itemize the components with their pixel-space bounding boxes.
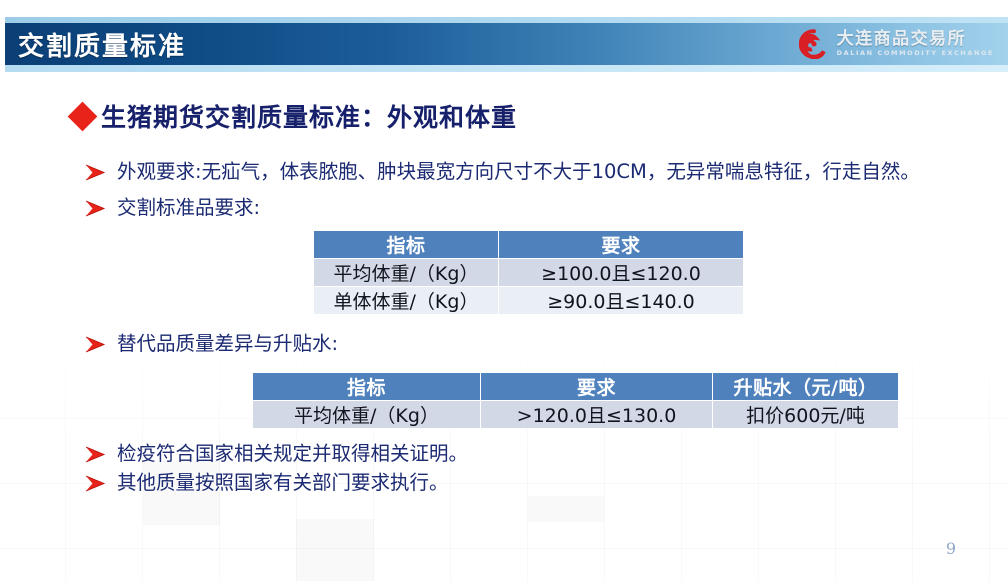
dce-logo-name-en: DALIAN COMMODITY EXCHANGE [837, 50, 994, 57]
title-bar-bottom-accent [5, 65, 1008, 72]
background-blotch [296, 519, 374, 581]
red-arrow-bullet-icon [84, 472, 106, 496]
column-header-indicator: 指标 [314, 231, 499, 259]
bullet-item-other-quality: 其他质量按照国家有关部门要求执行。 [84, 469, 1008, 496]
bullet-item-quarantine: 检疫符合国家相关规定并取得相关证明。 [84, 440, 1008, 467]
bullet-label: 其他质量按照国家有关部门要求执行。 [117, 469, 449, 496]
slide-title-bar: 交割质量标准 大连商品交易所 DALIAN COMMODITY EXCHANGE [5, 17, 1008, 72]
slide-content: 生猪期货交割质量标准：外观和体重 外观要求:无疝气，体表脓胞、肿块最宽方向尺寸不… [0, 80, 1008, 496]
cell-requirement: >120.0且≤130.0 [481, 401, 713, 429]
standard-product-table: 指标 要求 平均体重/（Kg） ≥100.0且≤120.0 单体体重/（Kg） … [313, 230, 744, 315]
bullet-label: 替代品质量差异与升贴水: [117, 330, 338, 357]
bullet-item-standard-requirement: 交割标准品要求: [84, 194, 1008, 221]
cell-indicator: 平均体重/（Kg） [253, 401, 481, 429]
substitute-premium-table-block: 指标 要求 升贴水（元/吨） 平均体重/（Kg） >120.0且≤130.0 扣… [252, 372, 1008, 429]
section-heading: 生猪期货交割质量标准：外观和体重 [72, 98, 1008, 134]
bullet-label: 交割标准品要求: [117, 194, 260, 221]
cell-requirement: ≥90.0且≤140.0 [499, 287, 744, 315]
page-title: 交割质量标准 [5, 26, 186, 63]
table-header-row: 指标 要求 [314, 231, 744, 259]
column-header-requirement: 要求 [481, 373, 713, 401]
table-row: 平均体重/（Kg） ≥100.0且≤120.0 [314, 259, 744, 287]
red-arrow-bullet-icon [84, 443, 106, 467]
bullet-item-substitute-premium: 替代品质量差异与升贴水: [84, 330, 1008, 357]
dce-swirl-logo-icon [799, 29, 829, 59]
red-arrow-bullet-icon [84, 333, 106, 357]
table-row: 平均体重/（Kg） >120.0且≤130.0 扣价600元/吨 [253, 401, 899, 429]
dce-logo-text: 大连商品交易所 DALIAN COMMODITY EXCHANGE [837, 31, 994, 57]
red-arrow-bullet-icon [84, 197, 106, 221]
column-header-premium: 升贴水（元/吨） [713, 373, 899, 401]
red-arrow-bullet-icon [84, 161, 106, 185]
cell-indicator: 单体体重/（Kg） [314, 287, 499, 315]
dce-logo: 大连商品交易所 DALIAN COMMODITY EXCHANGE [799, 29, 1008, 59]
bullet-label: 检疫符合国家相关规定并取得相关证明。 [117, 440, 468, 467]
cell-premium: 扣价600元/吨 [713, 401, 899, 429]
dce-logo-name-cn: 大连商品交易所 [837, 31, 994, 48]
section-heading-label: 生猪期货交割质量标准：外观和体重 [101, 98, 517, 134]
table-row: 单体体重/（Kg） ≥90.0且≤140.0 [314, 287, 744, 315]
background-blotch [528, 496, 604, 522]
cell-indicator: 平均体重/（Kg） [314, 259, 499, 287]
cell-requirement: ≥100.0且≤120.0 [499, 259, 744, 287]
title-bar-band: 交割质量标准 大连商品交易所 DALIAN COMMODITY EXCHANGE [5, 23, 1008, 65]
bullet-item-appearance: 外观要求:无疝气，体表脓胞、肿块最宽方向尺寸不大于10CM，无异常喘息特征，行走… [84, 158, 1008, 185]
red-diamond-bullet-icon [68, 101, 98, 131]
page-number: 9 [946, 539, 956, 558]
column-header-requirement: 要求 [499, 231, 744, 259]
table-header-row: 指标 要求 升贴水（元/吨） [253, 373, 899, 401]
column-header-indicator: 指标 [253, 373, 481, 401]
standard-product-table-block: 指标 要求 平均体重/（Kg） ≥100.0且≤120.0 单体体重/（Kg） … [313, 230, 1008, 315]
bullet-label: 外观要求:无疝气，体表脓胞、肿块最宽方向尺寸不大于10CM，无异常喘息特征，行走… [117, 158, 920, 185]
substitute-premium-table: 指标 要求 升贴水（元/吨） 平均体重/（Kg） >120.0且≤130.0 扣… [252, 372, 899, 429]
